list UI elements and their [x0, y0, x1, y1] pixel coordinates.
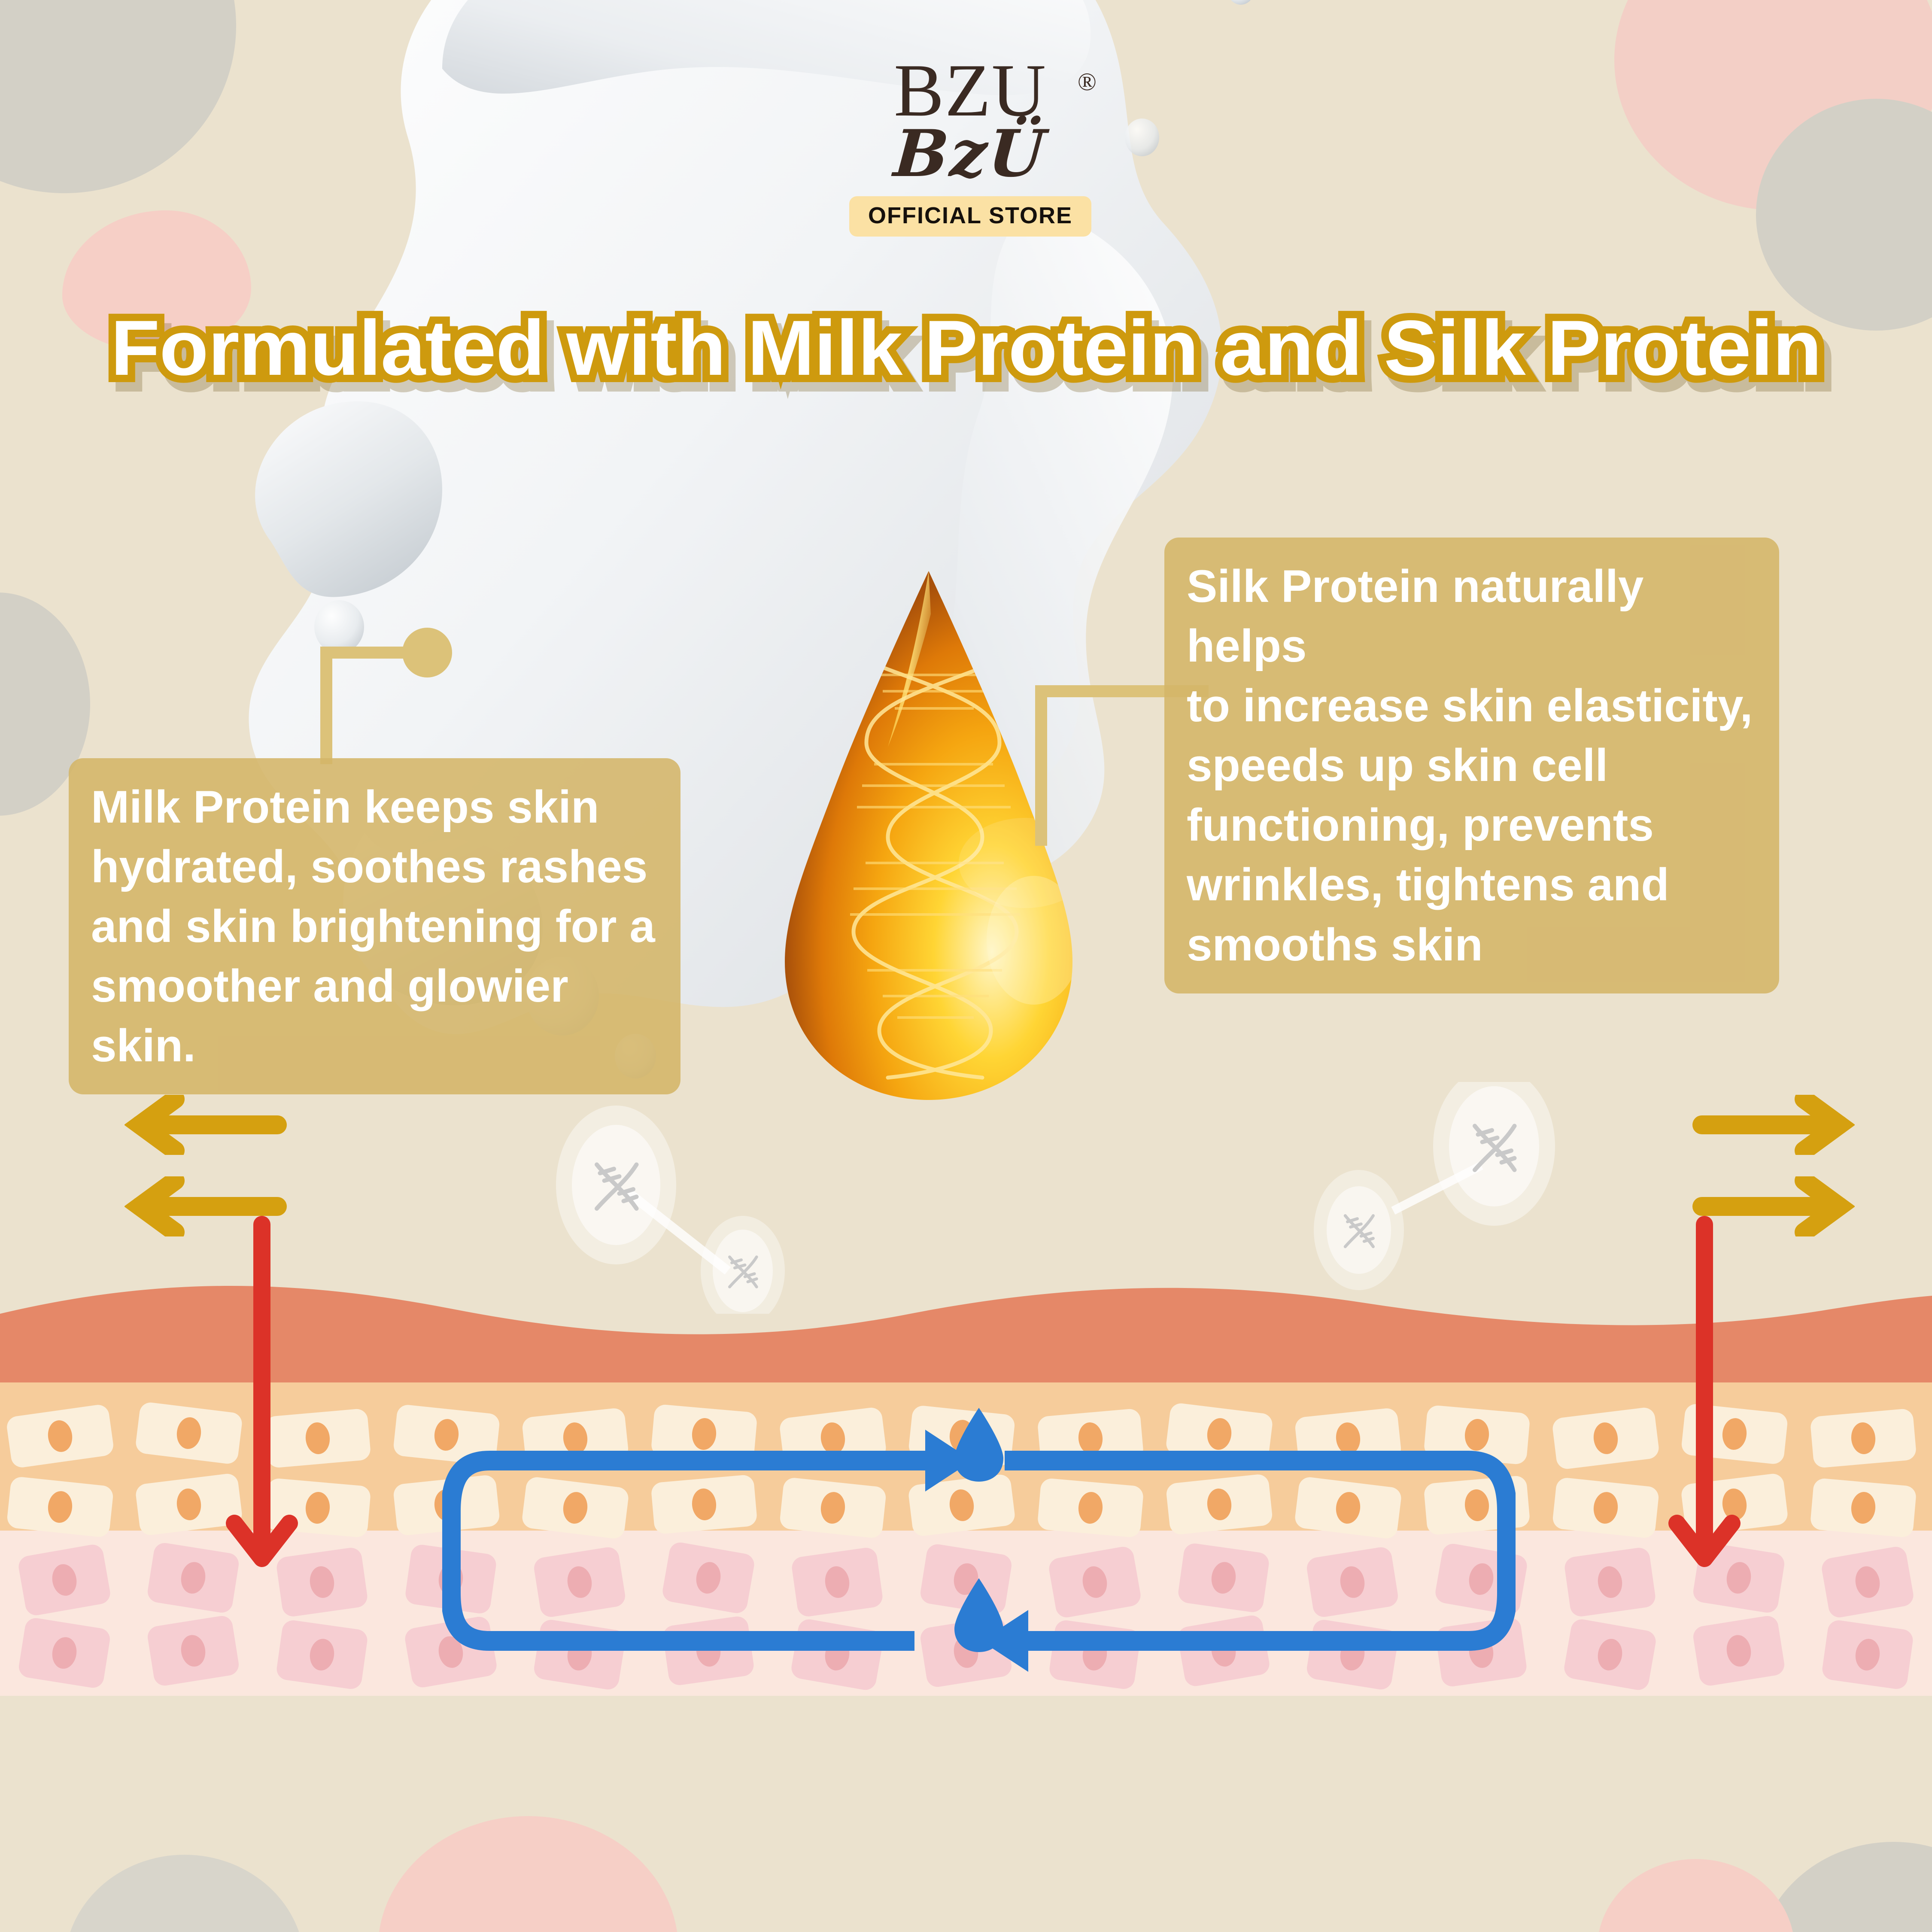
logo-bzu-text: BZU ®: [894, 56, 1047, 125]
callout-line: Milk Protein keeps skin: [91, 777, 658, 837]
bg-blob-pink-bottomright: [1597, 1859, 1795, 1932]
callout-milk-protein: Milk Protein keeps skin hydrated, soothe…: [69, 758, 680, 1094]
callout-line: functioning, prevents: [1187, 795, 1757, 855]
callout-line: smoother and glowier skin.: [91, 956, 658, 1075]
skin-cell-icon: [1810, 1478, 1917, 1538]
registered-trademark-icon: ®: [1078, 70, 1097, 93]
callout-silk-protein: Silk Protein naturally helps to increase…: [1164, 538, 1779, 993]
callout-line: wrinkles, tightens and: [1187, 855, 1757, 914]
skin-cell-icon: [1563, 1546, 1657, 1618]
skin-cell-icon: [1810, 1408, 1917, 1468]
page-title: Formulated with Milk Protein and Silk Pr…: [0, 303, 1932, 393]
water-droplet-icon-lower: [951, 1577, 1007, 1654]
logo-script-label: BzÜ: [805, 122, 1136, 186]
callout-line: hydrated, soothes rashes: [91, 837, 658, 896]
water-droplet-icon-upper: [951, 1406, 1007, 1483]
brand-logo: BZU ® BzÜ OFFICIAL STORE: [807, 56, 1133, 237]
penetration-arrow-left: [219, 1215, 305, 1589]
bg-blob-gray-bottomleft: [64, 1855, 305, 1932]
stretch-arrow-left-upper: [125, 1095, 288, 1155]
skin-cell-icon: [1821, 1619, 1914, 1690]
skin-cell-icon: [6, 1476, 114, 1538]
official-store-badge: OFFICIAL STORE: [849, 196, 1091, 237]
callout-line: Silk Protein naturally helps: [1187, 556, 1757, 676]
skin-cell-icon: [275, 1619, 369, 1690]
callout-line: speeds up skin cell: [1187, 735, 1757, 795]
bg-blob-pink-bottomleft: [378, 1816, 678, 1932]
callout-line: smooths skin: [1187, 915, 1757, 975]
stretch-arrow-right-upper: [1692, 1095, 1855, 1155]
skin-cell-icon: [1552, 1477, 1659, 1539]
callout-line: to increase skin elasticity,: [1187, 676, 1757, 735]
penetration-arrow-right: [1662, 1215, 1747, 1589]
product-infographic: BZU ® BzÜ OFFICIAL STORE Formulated with…: [0, 0, 1932, 1932]
callout-line: and skin brightening for a: [91, 896, 658, 956]
